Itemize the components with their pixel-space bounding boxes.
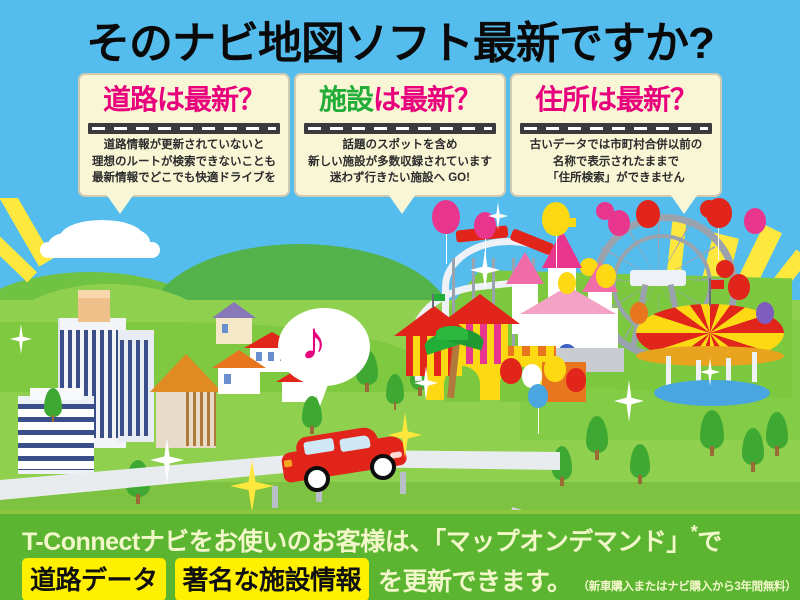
house-window <box>222 324 228 333</box>
body-line: 新しい施設が多数収録されています <box>300 154 500 171</box>
banner-tail-text: を更新できます。 <box>378 562 572 598</box>
skyscraper-secondary-windows <box>120 340 152 436</box>
info-panel-address-title-part2: は最新？ <box>589 84 697 115</box>
balloon <box>500 358 522 384</box>
illustration-scene: ♪ <box>0 198 800 510</box>
carousel-pole <box>752 352 757 382</box>
road-divider-icon <box>520 123 712 134</box>
info-panel-roads-title-part2: は最新？ <box>157 84 265 115</box>
balloon <box>744 208 766 234</box>
info-panel-facilities: 施設は最新？ 話題のスポットを含め 新しい施設が多数収録されています 迷わず行き… <box>294 73 506 197</box>
carousel-base <box>654 380 770 406</box>
palm-tree-leaf <box>436 326 468 340</box>
body-line: 古いデータでは市町村合併以前の <box>516 137 716 154</box>
balloon <box>528 384 548 408</box>
info-panel-facilities-body: 話題のスポットを含め 新しい施設が多数収録されています 迷わず行きたい施設へ G… <box>300 137 500 187</box>
road-divider-icon <box>88 123 280 134</box>
body-line: 道路情報が更新されていないと <box>84 137 284 154</box>
info-panel-address-title-part1: 住所 <box>535 84 589 115</box>
speech-bubble-tail <box>311 382 329 406</box>
chip-facility-info: 著名な施設情報 <box>175 558 370 600</box>
balloon <box>544 356 566 382</box>
cloud <box>40 242 160 258</box>
car <box>282 430 406 480</box>
info-panel-facilities-title: 施設は最新？ <box>296 80 504 120</box>
music-speech-bubble: ♪ <box>278 308 370 386</box>
info-panel-roads-title-part1: 道路 <box>103 84 157 115</box>
balloon <box>756 302 774 324</box>
info-panel-address: 住所は最新？ 古いデータでは市町村合併以前の 名称で表示されたままで 「住所検索… <box>510 73 722 197</box>
balloon <box>596 264 616 288</box>
speech-bubble-tail <box>388 194 416 214</box>
carousel-flag <box>710 280 724 289</box>
chip-road-data: 道路データ <box>22 558 166 600</box>
body-line: 迷わず行きたい施設へ GO! <box>300 170 500 187</box>
balloon <box>542 202 570 236</box>
balloon <box>728 274 750 300</box>
balloon-string <box>718 228 719 260</box>
temple-building-columns <box>186 390 216 446</box>
body-line: 名称で表示されたままで <box>516 154 716 171</box>
balloon <box>630 302 648 324</box>
tree <box>44 388 62 422</box>
info-panel-facilities-title-part1: 施設 <box>319 84 373 115</box>
tree <box>386 374 404 410</box>
balloon <box>608 210 630 236</box>
balloon <box>432 200 460 234</box>
body-line: 「住所検索」ができません <box>516 170 716 187</box>
music-note-icon: ♪ <box>300 314 327 368</box>
tent-flag <box>434 294 445 301</box>
ferris-wheel-cabin <box>716 260 734 278</box>
info-panel-address-title: 住所は最新？ <box>512 80 720 120</box>
car-wheel-rear <box>304 466 330 492</box>
house-window <box>256 352 262 361</box>
car-taillight <box>284 459 293 467</box>
balloon <box>566 368 586 392</box>
page-title: そのナビ地図ソフト最新ですか? <box>0 8 800 70</box>
banner-headline-suffix: で <box>697 528 722 556</box>
skyscraper-main-roofbox-top <box>78 290 110 298</box>
banner-fine-print: （新車購入またはナビ購入から3年間無料） <box>578 578 797 594</box>
road-pillar <box>272 486 278 508</box>
tree <box>766 412 788 456</box>
skyscraper-main-roofbox <box>78 296 110 322</box>
info-panel-address-body: 古いデータでは市町村合併以前の 名称で表示されたままで 「住所検索」ができません <box>516 137 716 187</box>
speech-bubble-tail <box>106 194 134 214</box>
bottom-banner: T-Connectナビをお使いのお客様は、「マップオンデマンド」*で 道路データ… <box>0 510 800 600</box>
balloon <box>558 272 576 294</box>
house-window <box>224 374 231 384</box>
car-wheel-front <box>370 454 396 480</box>
balloon-string <box>446 234 447 264</box>
balloon <box>706 198 732 228</box>
info-panel-roads-title: 道路は最新？ <box>80 80 288 120</box>
house-window <box>268 352 274 361</box>
tree <box>742 428 764 472</box>
speech-bubble-tail <box>670 194 698 214</box>
banner-headline: T-Connectナビをお使いのお客様は、「マップオンデマンド」*で <box>22 522 722 558</box>
body-line: 話題のスポットを含め <box>300 137 500 154</box>
carousel-flagpole <box>709 278 711 306</box>
body-line: 理想のルートが検索できないことも <box>84 154 284 171</box>
balloon <box>636 200 660 228</box>
info-panel-roads-body: 道路情報が更新されていないと 理想のルートが検索できないことも 最新情報でどこで… <box>84 137 284 187</box>
ferris-wheel-hub <box>630 270 686 286</box>
info-panel-facilities-title-part2: は最新？ <box>373 84 481 115</box>
info-panel-roads: 道路は最新？ 道路情報が更新されていないと 理想のルートが検索できないことも 最… <box>78 73 290 197</box>
advertisement-root: そのナビ地図ソフト最新ですか? 道路は最新？ 道路情報が更新されていないと 理想… <box>0 0 800 600</box>
body-line: 最新情報でどこでも快適ドライブを <box>84 170 284 187</box>
banner-headline-text: T-Connectナビをお使いのお客様は、「マップオンデマンド」 <box>22 528 691 556</box>
road-divider-icon <box>304 123 496 134</box>
balloon-string <box>538 408 539 434</box>
banner-subline: 道路データ 著名な施設情報 を更新できます。 （新車購入またはナビ購入から3年間… <box>22 558 796 600</box>
balloon-string <box>556 236 557 280</box>
